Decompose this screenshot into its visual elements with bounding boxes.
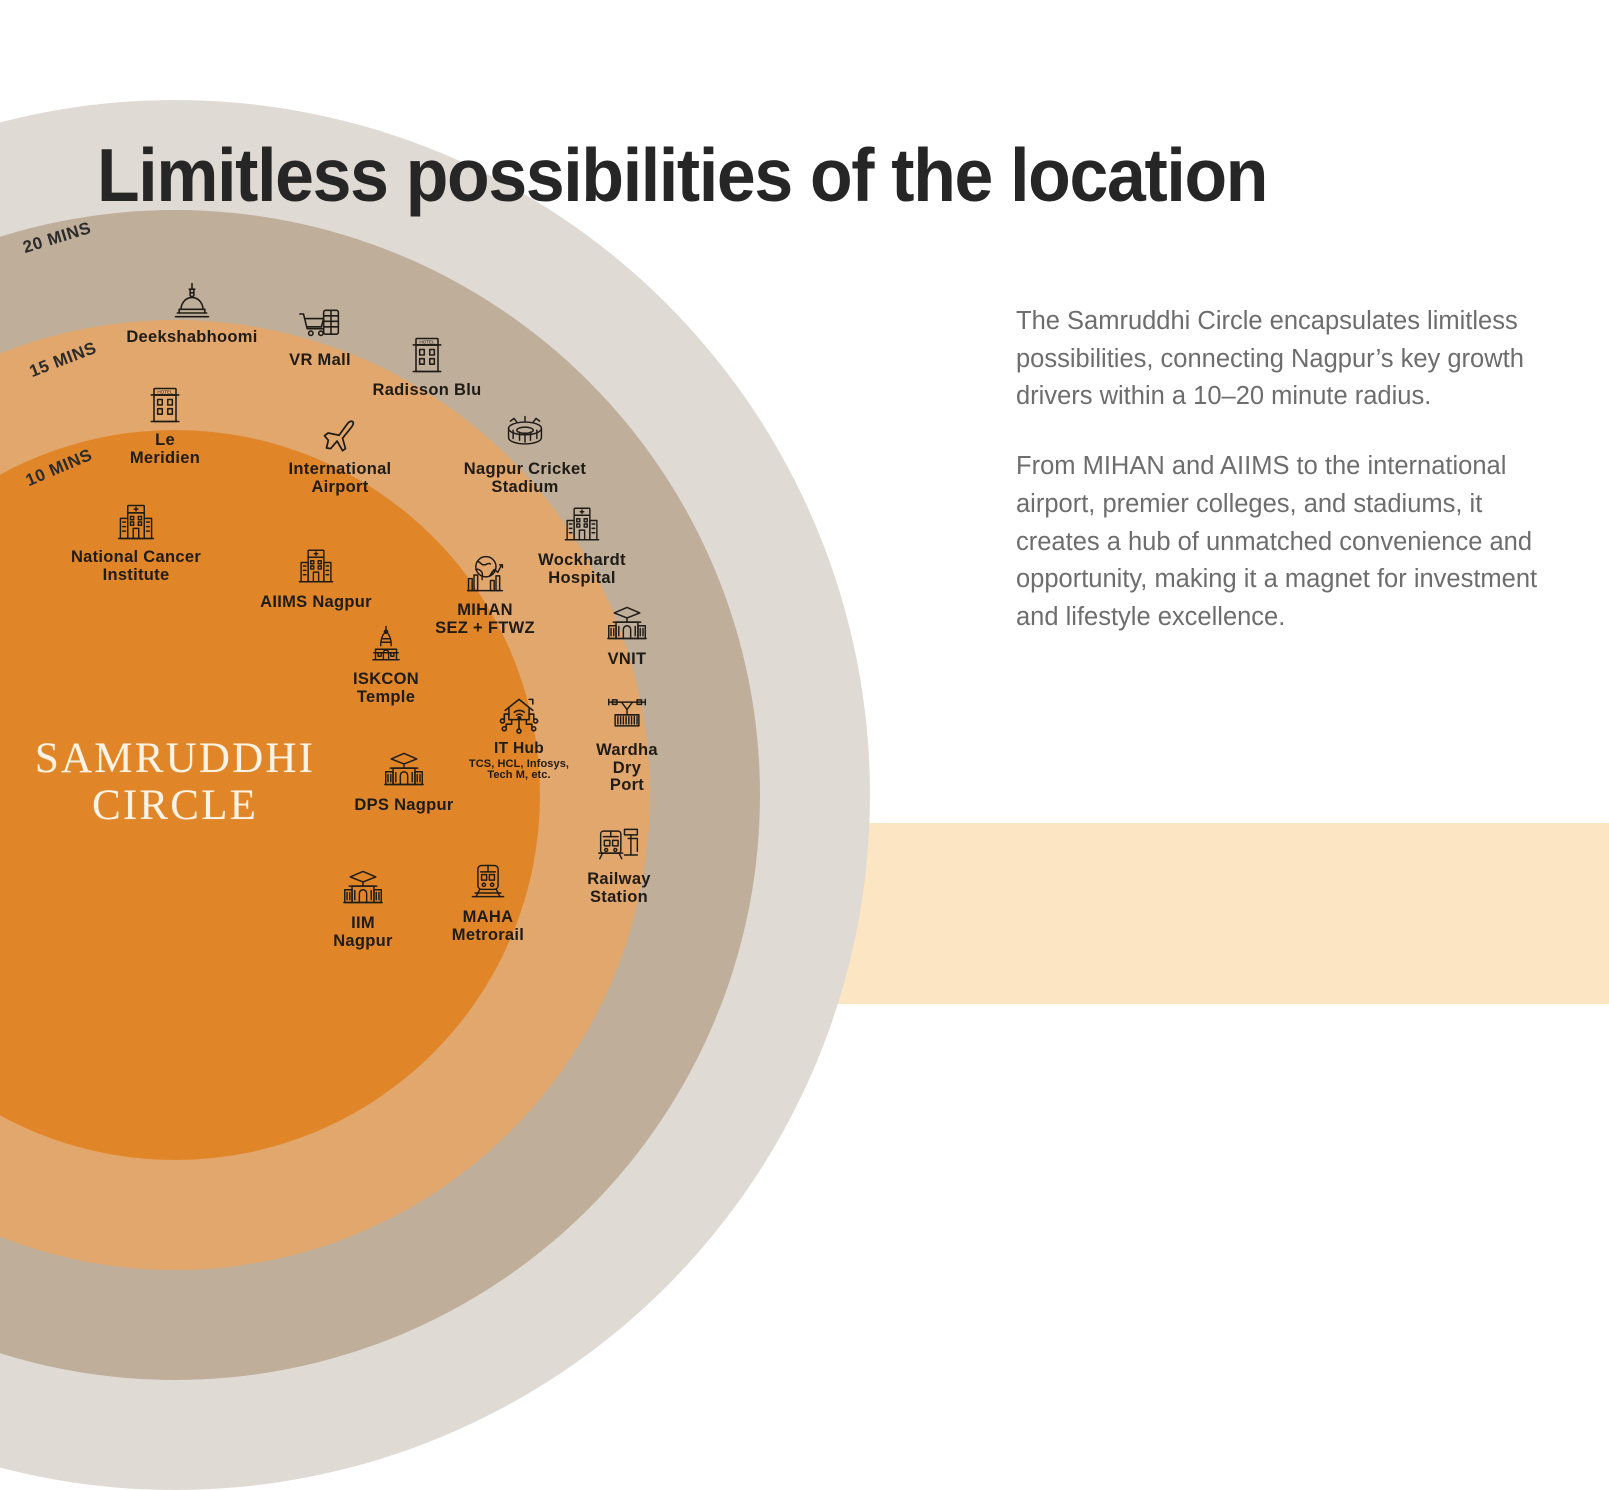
university-icon xyxy=(542,602,712,648)
poi-label: National Cancer Institute xyxy=(51,549,221,584)
poi-label: Wockhardt Hospital xyxy=(497,552,667,587)
hospital-icon xyxy=(497,503,667,549)
metro-train-icon xyxy=(403,860,573,906)
poi-international-airport[interactable]: International Airport xyxy=(255,412,425,496)
hotel-icon: HOTEL xyxy=(342,333,512,379)
poi-wockhardt-hospital[interactable]: Wockhardt Hospital xyxy=(497,503,667,587)
poi-aiims-nagpur[interactable]: AIIMS Nagpur xyxy=(231,545,401,612)
poi-label: International Airport xyxy=(255,461,425,496)
poi-label: AIIMS Nagpur xyxy=(231,594,401,612)
poi-national-cancer-institute[interactable]: National Cancer Institute xyxy=(51,500,221,584)
poi-label: Le Meridien xyxy=(80,432,250,467)
description-paragraph-2: From MIHAN and AIIMS to the internationa… xyxy=(1016,448,1556,637)
poi-le-meridien[interactable]: HOTEL Le Meridien xyxy=(80,383,250,467)
poi-label: Radisson Blu xyxy=(342,382,512,400)
poi-vnit[interactable]: VNIT xyxy=(542,602,712,669)
temple-icon xyxy=(301,622,471,668)
poi-label: Nagpur Cricket Stadium xyxy=(440,461,610,496)
description-block: The Samruddhi Circle encapsulates limitl… xyxy=(1016,303,1556,637)
airplane-icon xyxy=(255,412,425,458)
poi-maha-metrorail[interactable]: MAHA Metrorail xyxy=(403,860,573,944)
university-icon xyxy=(319,748,489,794)
stadium-icon xyxy=(440,412,610,458)
description-paragraph-1: The Samruddhi Circle encapsulates limitl… xyxy=(1016,303,1556,416)
container-crane-icon xyxy=(542,693,712,739)
center-label: SAMRUDDHI CIRCLE xyxy=(10,735,340,830)
center-label-line2: CIRCLE xyxy=(10,782,340,829)
poi-dps-nagpur[interactable]: DPS Nagpur xyxy=(319,748,489,815)
hospital-icon xyxy=(51,500,221,546)
svg-text:HOTEL: HOTEL xyxy=(157,390,173,395)
poi-label: Wardha Dry Port xyxy=(542,742,712,795)
page-title: Limitless possibilities of the location xyxy=(97,138,1446,213)
svg-text:HOTEL: HOTEL xyxy=(419,340,435,345)
poi-label: VNIT xyxy=(542,651,712,669)
hotel-icon: HOTEL xyxy=(80,383,250,429)
poi-wardha-dry-port[interactable]: Wardha Dry Port xyxy=(542,693,712,795)
poi-radisson-blu[interactable]: HOTEL Radisson Blu xyxy=(342,333,512,400)
poi-label: MAHA Metrorail xyxy=(403,909,573,944)
poi-label: DPS Nagpur xyxy=(319,797,489,815)
hospital-icon xyxy=(231,545,401,591)
center-label-line1: SAMRUDDHI xyxy=(35,735,315,782)
poi-nagpur-cricket-stadium[interactable]: Nagpur Cricket Stadium xyxy=(440,412,610,496)
